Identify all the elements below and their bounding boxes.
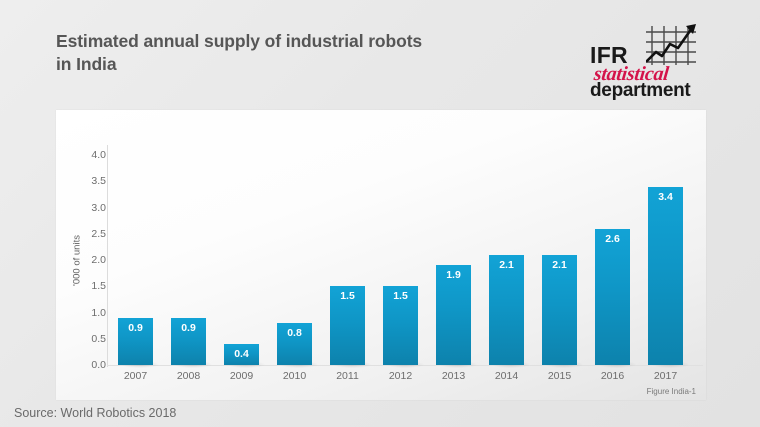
x-axis-tick-wrap: 2016: [586, 110, 639, 400]
x-axis-tick-label: 2015: [533, 370, 586, 382]
x-axis-tick-label: 2008: [162, 370, 215, 382]
x-axis-tick-label: 2007: [109, 370, 162, 382]
bar-series: 0.920070.920080.420090.820101.520111.520…: [107, 110, 703, 400]
page-title: Estimated annual supply of industrial ro…: [56, 30, 526, 76]
x-axis-tick-wrap: 2008: [162, 110, 215, 400]
x-axis-tick-wrap: 2013: [427, 110, 480, 400]
x-axis-tick-wrap: 2012: [374, 110, 427, 400]
source-note: Source: World Robotics 2018: [14, 406, 176, 420]
y-axis-tick-label: 0.5: [60, 333, 106, 345]
x-axis-tick-wrap: 2010: [268, 110, 321, 400]
x-axis-tick-label: 2009: [215, 370, 268, 382]
grid-trendline-icon: [646, 22, 704, 67]
slide-header: Estimated annual supply of industrial ro…: [0, 0, 760, 110]
x-axis-tick-wrap: 2014: [480, 110, 533, 400]
y-axis-tick-label: 2.0: [60, 254, 106, 266]
y-axis-tick-label: 4.0: [60, 149, 106, 161]
y-axis-tick-label: 1.0: [60, 307, 106, 319]
page-title-line-2: in India: [56, 53, 526, 76]
ifr-logo: IFR statistical department: [588, 22, 706, 100]
logo-department-text: department: [590, 80, 690, 102]
x-axis-tick-label: 2012: [374, 370, 427, 382]
y-axis-tick-label: 1.5: [60, 280, 106, 292]
chart-panel: '000 of units 4.03.53.02.52.01.51.00.50.…: [56, 110, 706, 400]
x-axis-tick-wrap: 2007: [109, 110, 162, 400]
page-title-line-1: Estimated annual supply of industrial ro…: [56, 31, 422, 51]
y-axis-tick-label: 3.0: [60, 202, 106, 214]
x-axis-tick-wrap: 2015: [533, 110, 586, 400]
x-axis-tick-label: 2011: [321, 370, 374, 382]
x-axis-tick-label: 2016: [586, 370, 639, 382]
x-axis-tick-label: 2010: [268, 370, 321, 382]
slide-canvas: Estimated annual supply of industrial ro…: [0, 0, 760, 427]
bar-chart-plot-area: '000 of units 4.03.53.02.52.01.51.00.50.…: [56, 110, 706, 400]
x-axis-tick-wrap: 2009: [215, 110, 268, 400]
x-axis-tick-label: 2014: [480, 370, 533, 382]
x-axis-tick-wrap: 2017: [639, 110, 692, 400]
figure-caption: Figure India-1: [647, 387, 696, 396]
y-axis-tick-label: 0.0: [60, 359, 106, 371]
x-axis-tick-wrap: 2011: [321, 110, 374, 400]
x-axis-tick-label: 2017: [639, 370, 692, 382]
x-axis-tick-label: 2013: [427, 370, 480, 382]
y-axis-tick-label: 2.5: [60, 228, 106, 240]
y-axis-tick-label: 3.5: [60, 175, 106, 187]
y-axis-tick-labels: 4.03.53.02.52.01.51.00.50.0: [60, 110, 106, 400]
